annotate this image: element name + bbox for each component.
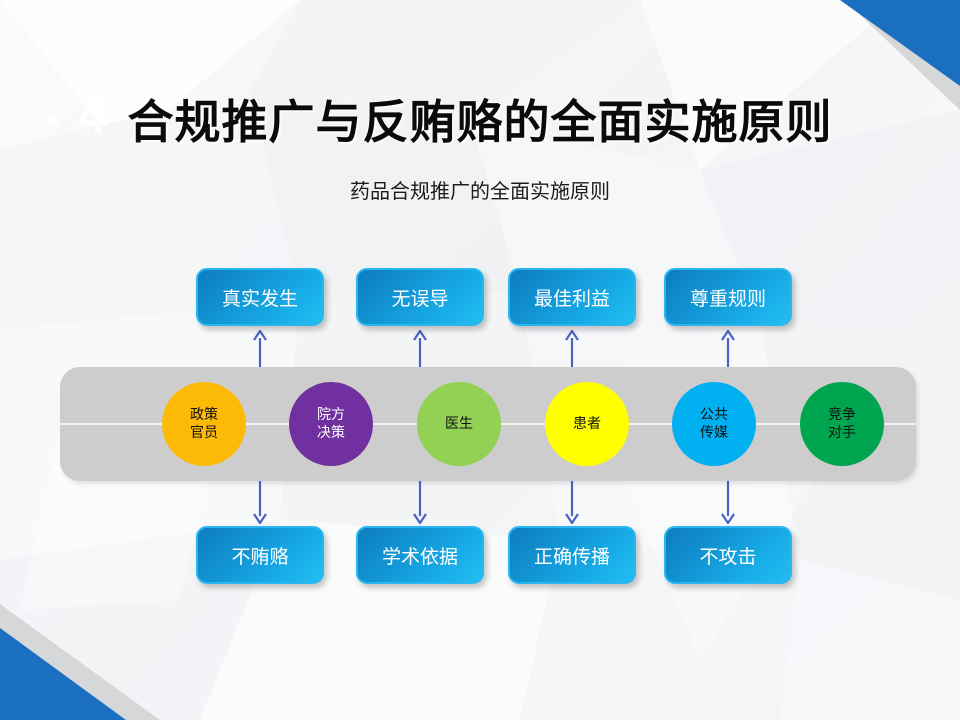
connector-arrow-up xyxy=(719,330,737,367)
principle-box-bottom[interactable]: 不贿赂 xyxy=(196,526,324,584)
principle-box-bottom[interactable]: 不攻击 xyxy=(664,526,792,584)
stakeholder-circle[interactable]: 竞争对手 xyxy=(800,382,884,466)
principle-box-bottom[interactable]: 正确传播 xyxy=(508,526,636,584)
slide-subtitle: 药品合规推广的全面实施原则 xyxy=(0,175,960,204)
stakeholder-label-line1: 竞争 xyxy=(828,406,856,424)
stakeholder-circle[interactable]: 政策官员 xyxy=(162,382,246,466)
stakeholder-circle[interactable]: 院方决策 xyxy=(289,382,373,466)
principle-box-top[interactable]: 最佳利益 xyxy=(508,268,636,326)
principle-box-bottom[interactable]: 学术依据 xyxy=(356,526,484,584)
stakeholder-label-line1: 公共 xyxy=(700,406,728,424)
principle-box-top[interactable]: 尊重规则 xyxy=(664,268,792,326)
slide-canvas: 4 " 合规推广与反贿赂的全面实施原则 药品合规推广的全面实施原则 政策官员院方… xyxy=(0,0,960,720)
connector-arrow-up xyxy=(251,330,269,367)
connector-arrow-up xyxy=(411,330,429,367)
stakeholder-label-line2: 决策 xyxy=(317,424,345,442)
connector-arrow-down xyxy=(411,481,429,524)
stakeholder-label-line1: 政策 xyxy=(190,406,218,424)
stakeholder-label-line1: 院方 xyxy=(317,406,345,424)
stakeholder-label-line1: 患者 xyxy=(573,415,601,433)
connector-arrow-up xyxy=(563,330,581,367)
connector-arrow-down xyxy=(251,481,269,524)
stakeholder-label-line2: 官员 xyxy=(190,424,218,442)
stakeholder-circle[interactable]: 医生 xyxy=(417,382,501,466)
connector-arrow-down xyxy=(719,481,737,524)
slide-title: 合规推广与反贿赂的全面实施原则 xyxy=(0,86,960,152)
stakeholder-label-line2: 传媒 xyxy=(700,424,728,442)
connector-arrow-down xyxy=(563,481,581,524)
principle-box-top[interactable]: 真实发生 xyxy=(196,268,324,326)
stakeholder-circle[interactable]: 患者 xyxy=(545,382,629,466)
principle-box-top[interactable]: 无误导 xyxy=(356,268,484,326)
corner-decoration-top-right-blue xyxy=(840,0,960,86)
stakeholder-label-line2: 对手 xyxy=(828,424,856,442)
stakeholder-label-line1: 医生 xyxy=(445,415,473,433)
stakeholder-circle[interactable]: 公共传媒 xyxy=(672,382,756,466)
